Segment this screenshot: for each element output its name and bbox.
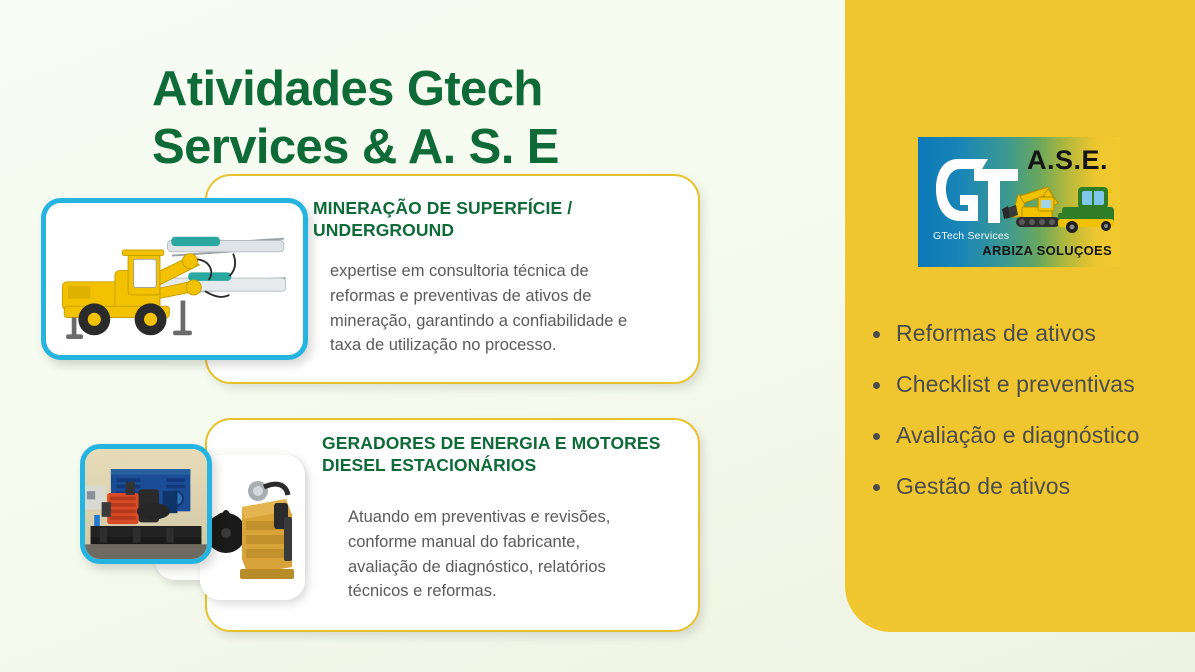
services-bullet-list: Reformas de ativos Checklist e preventiv… (870, 320, 1190, 524)
logo-image: GT GTech Services A.S.E. ARBIZA SOLUÇOES (918, 137, 1120, 267)
page-title: Atividades GtechServices & A. S. E (152, 61, 792, 177)
list-item[interactable]: Reformas de ativos (870, 320, 1190, 347)
machinery-illustration-icon (996, 173, 1120, 235)
slide-canvas: Atividades GtechServices & A. S. E MINER… (0, 0, 1195, 672)
diesel-engine-photo (200, 455, 305, 600)
logo-card: GT GTech Services A.S.E. ARBIZA SOLUÇOES (908, 126, 1130, 278)
gt-monogram-text: GT (918, 137, 919, 138)
logo-partner-sub-label: ARBIZA SOLUÇOES (982, 243, 1112, 258)
mining-drill-rig-photo (41, 198, 308, 360)
card-geradores-body: Atuando em preventivas e revisões, confo… (348, 505, 653, 604)
card-mineracao-heading: MINERAÇÃO DE SUPERFÍCIE / UNDERGROUND (313, 198, 685, 242)
list-item[interactable]: Avaliação e diagnóstico (870, 422, 1190, 449)
card-mineracao-body: expertise em consultoria técnica de refo… (330, 259, 648, 358)
right-yellow-panel (845, 0, 1195, 632)
card-geradores-heading: GERADORES DE ENERGIA E MOTORES DIESEL ES… (322, 433, 694, 477)
list-item[interactable]: Checklist e preventivas (870, 371, 1190, 398)
list-item[interactable]: Gestão de ativos (870, 473, 1190, 500)
logo-partner-label: A.S.E. (1027, 145, 1108, 176)
diesel-generator-photo (80, 444, 212, 564)
